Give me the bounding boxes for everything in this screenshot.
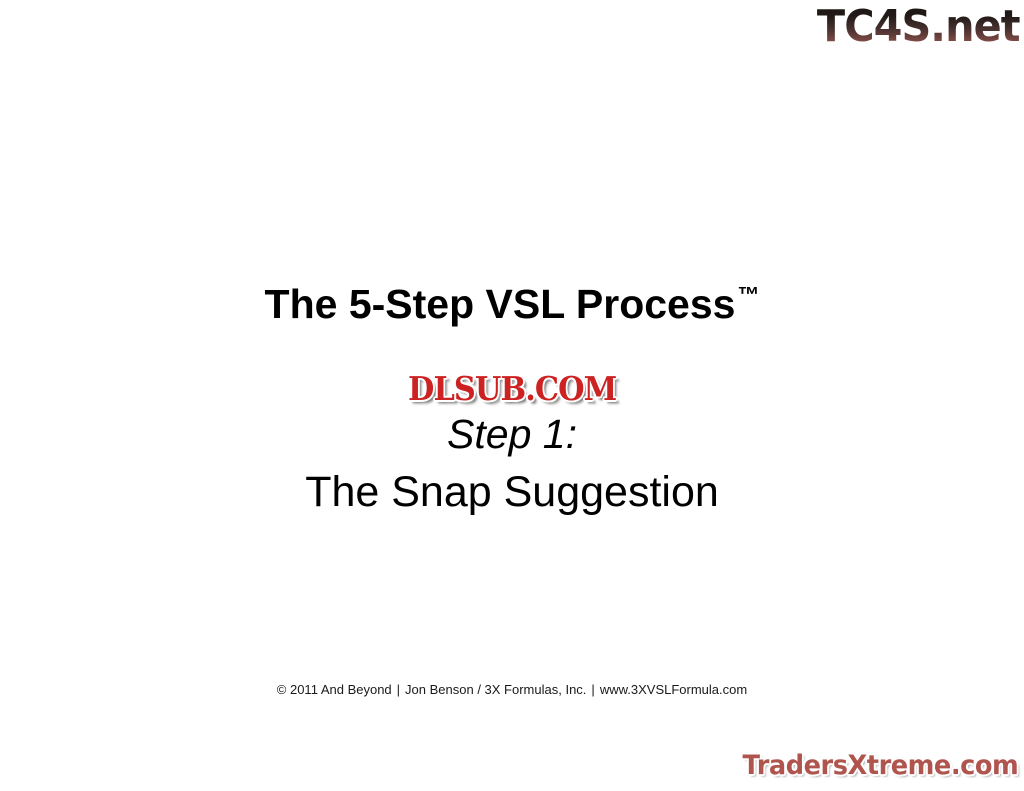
title-text: The 5-Step VSL Process bbox=[265, 281, 736, 327]
footer-copyright: © 2011 And Beyond|Jon Benson / 3X Formul… bbox=[0, 681, 1024, 699]
footer-separator-1: | bbox=[392, 682, 405, 697]
tradersxtreme-watermark: TradersXtreme.com bbox=[728, 749, 1018, 783]
footer-separator-2: | bbox=[586, 682, 599, 697]
dlsub-watermark-text: DLSUB.COM bbox=[408, 370, 616, 408]
page-title: The 5-Step VSL Process™ bbox=[0, 279, 1024, 329]
tradersxtreme-watermark-text: TradersXtreme.com bbox=[742, 749, 1018, 783]
footer-website: www.3XVSLFormula.com bbox=[600, 682, 747, 697]
step-subtitle: The Snap Suggestion bbox=[0, 466, 1024, 518]
footer-author: Jon Benson / 3X Formulas, Inc. bbox=[405, 682, 586, 697]
footer-copyright-text: © 2011 And Beyond bbox=[277, 682, 392, 697]
trademark-symbol: ™ bbox=[737, 282, 759, 307]
step-label: Step 1: bbox=[0, 409, 1024, 459]
dlsub-watermark: DLSUB.COM bbox=[0, 370, 1024, 408]
slide-canvas: TC4S.net The 5-Step VSL Process™ DLSUB.C… bbox=[0, 0, 1024, 791]
tc4s-logo: TC4S.net bbox=[817, 2, 1020, 52]
